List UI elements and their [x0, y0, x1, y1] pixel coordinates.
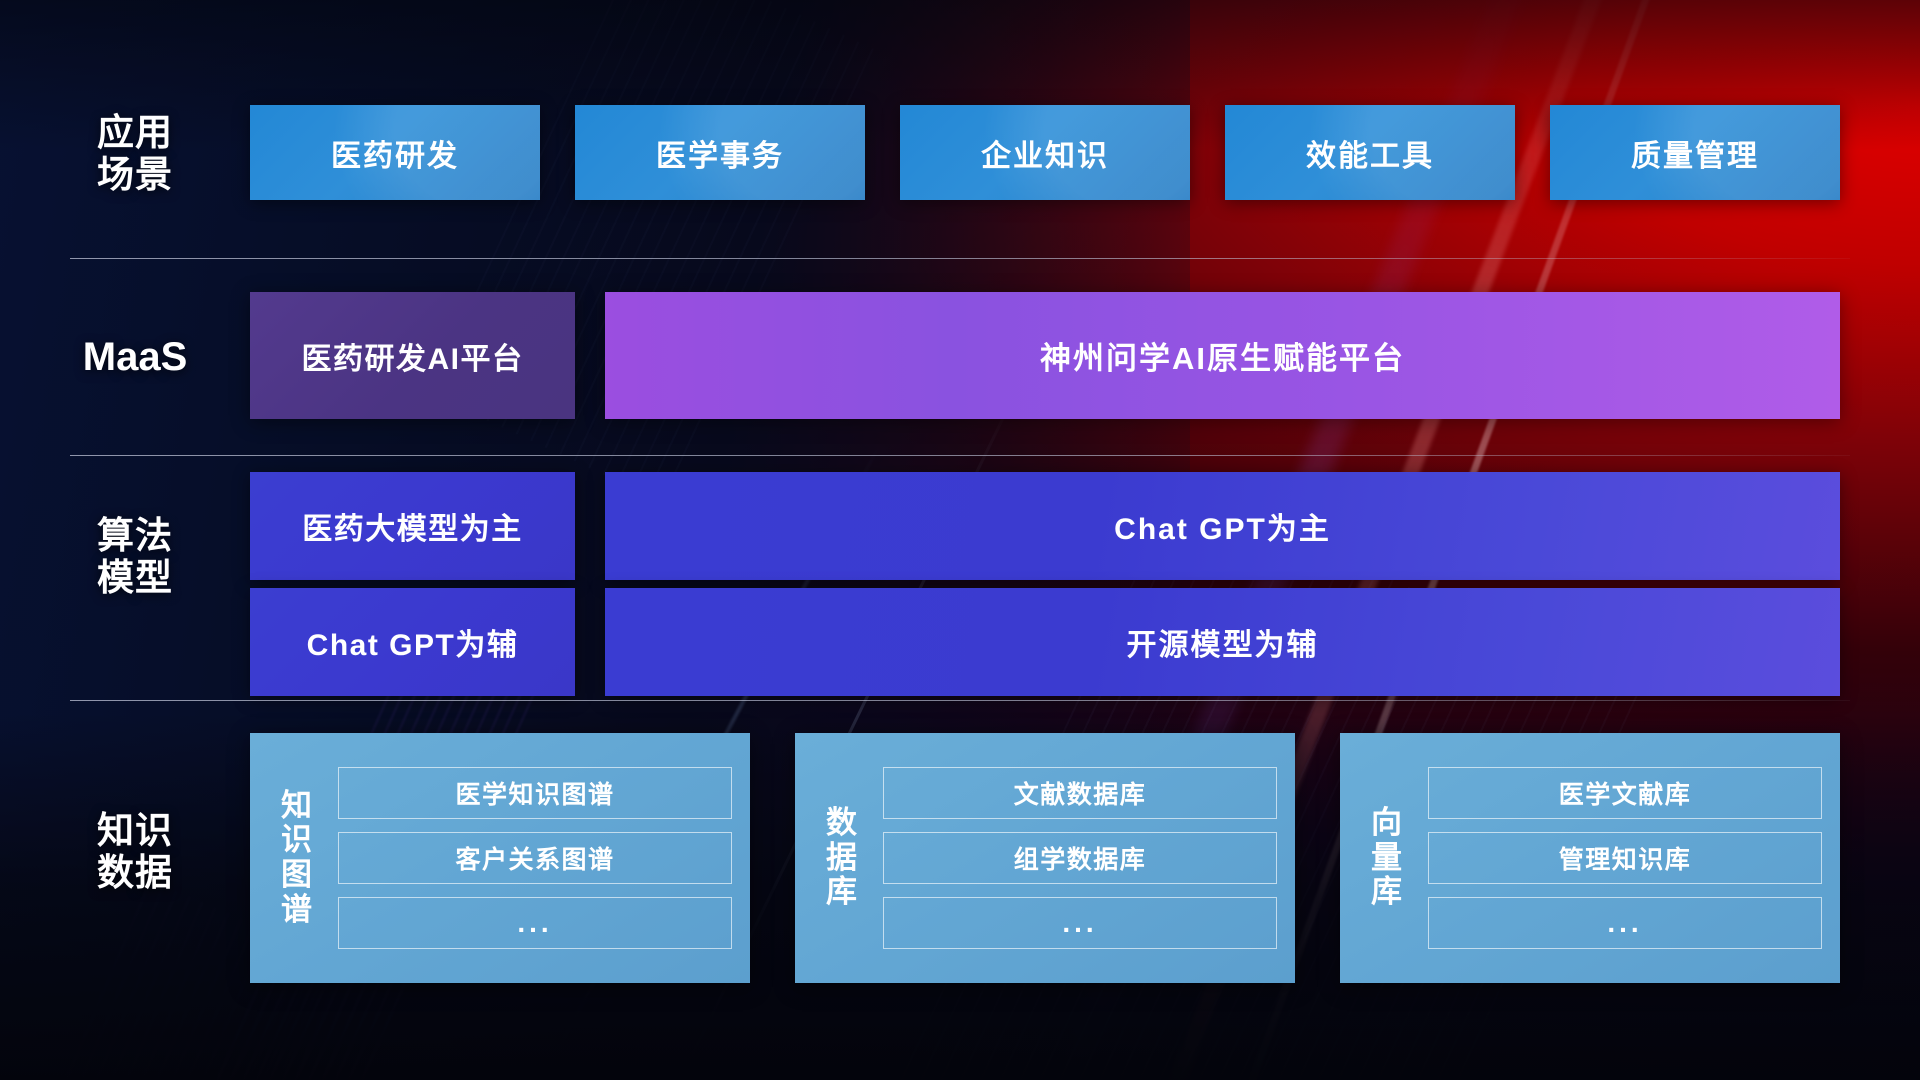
knowledge-item[interactable]: 客户关系图谱: [338, 832, 732, 884]
maas-box-shenzhou-wenxue-platform[interactable]: 神州问学AI原生赋能平台: [605, 292, 1840, 419]
knowledge-item[interactable]: 文献数据库: [883, 767, 1277, 819]
row-label-line-2: 模型: [70, 557, 200, 599]
knowledge-item[interactable]: 组学数据库: [883, 832, 1277, 884]
app-scenario-box-3[interactable]: 企业知识: [900, 105, 1190, 200]
algorithm-box-label: Chat GPT为主: [1114, 504, 1331, 548]
divider-1: [70, 258, 1850, 259]
maas-box-label: 神州问学AI原生赋能平台: [1040, 333, 1405, 378]
algorithm-box-left-1[interactable]: 医药大模型为主: [250, 472, 575, 580]
algorithm-box-left-2[interactable]: Chat GPT为辅: [250, 588, 575, 696]
knowledge-group-graph[interactable]: 知识图谱 医学知识图谱 客户关系图谱 ...: [250, 733, 750, 983]
algorithm-box-label: 医药大模型为主: [302, 504, 523, 548]
app-scenario-label: 医学事务: [656, 131, 784, 175]
row-label-knowledge-data: 知识 数据: [70, 810, 200, 894]
knowledge-item-more[interactable]: ...: [1428, 897, 1822, 949]
maas-box-label: 医药研发AI平台: [302, 334, 524, 378]
app-scenario-label: 效能工具: [1306, 131, 1434, 175]
app-scenario-label: 质量管理: [1631, 131, 1759, 175]
row-label-text: MaaS: [70, 335, 200, 381]
app-scenario-box-5[interactable]: 质量管理: [1550, 105, 1840, 200]
app-scenario-label: 医药研发: [331, 131, 459, 175]
knowledge-group-items: 文献数据库 组学数据库 ...: [883, 767, 1277, 949]
row-label-line-1: 算法: [70, 515, 200, 557]
algorithm-box-right-2[interactable]: 开源模型为辅: [605, 588, 1840, 696]
maas-box-pharma-ai-platform[interactable]: 医药研发AI平台: [250, 292, 575, 419]
knowledge-group-vector-store[interactable]: 向量库 医学文献库 管理知识库 ...: [1340, 733, 1840, 983]
knowledge-group-items: 医学知识图谱 客户关系图谱 ...: [338, 767, 732, 949]
knowledge-item-more[interactable]: ...: [883, 897, 1277, 949]
row-label-algorithm-model: 算法 模型: [70, 515, 200, 599]
app-scenario-label: 企业知识: [981, 131, 1109, 175]
knowledge-group-title: 向量库: [1356, 806, 1418, 910]
app-scenario-box-1[interactable]: 医药研发: [250, 105, 540, 200]
algorithm-box-right-1[interactable]: Chat GPT为主: [605, 472, 1840, 580]
row-label-maas: MaaS: [70, 335, 200, 381]
divider-3: [70, 700, 1850, 701]
algorithm-box-label: Chat GPT为辅: [307, 620, 519, 664]
app-scenario-box-4[interactable]: 效能工具: [1225, 105, 1515, 200]
algorithm-box-label: 开源模型为辅: [1127, 620, 1319, 664]
knowledge-group-title: 知识图谱: [266, 789, 328, 928]
row-label-line-1: 应用: [70, 112, 200, 154]
knowledge-group-database[interactable]: 数据库 文献数据库 组学数据库 ...: [795, 733, 1295, 983]
knowledge-item-more[interactable]: ...: [338, 897, 732, 949]
app-scenario-box-2[interactable]: 医学事务: [575, 105, 865, 200]
divider-2: [70, 455, 1850, 456]
row-label-application-scenario: 应用 场景: [70, 112, 200, 196]
knowledge-group-title: 数据库: [811, 806, 873, 910]
knowledge-item[interactable]: 管理知识库: [1428, 832, 1822, 884]
knowledge-group-items: 医学文献库 管理知识库 ...: [1428, 767, 1822, 949]
architecture-diagram: 应用 场景 医药研发 医学事务 企业知识 效能工具 质量管理 MaaS 医药研发…: [0, 0, 1920, 1080]
row-label-line-2: 数据: [70, 852, 200, 894]
row-label-line-1: 知识: [70, 810, 200, 852]
knowledge-item[interactable]: 医学文献库: [1428, 767, 1822, 819]
knowledge-item[interactable]: 医学知识图谱: [338, 767, 732, 819]
row-label-line-2: 场景: [70, 154, 200, 196]
